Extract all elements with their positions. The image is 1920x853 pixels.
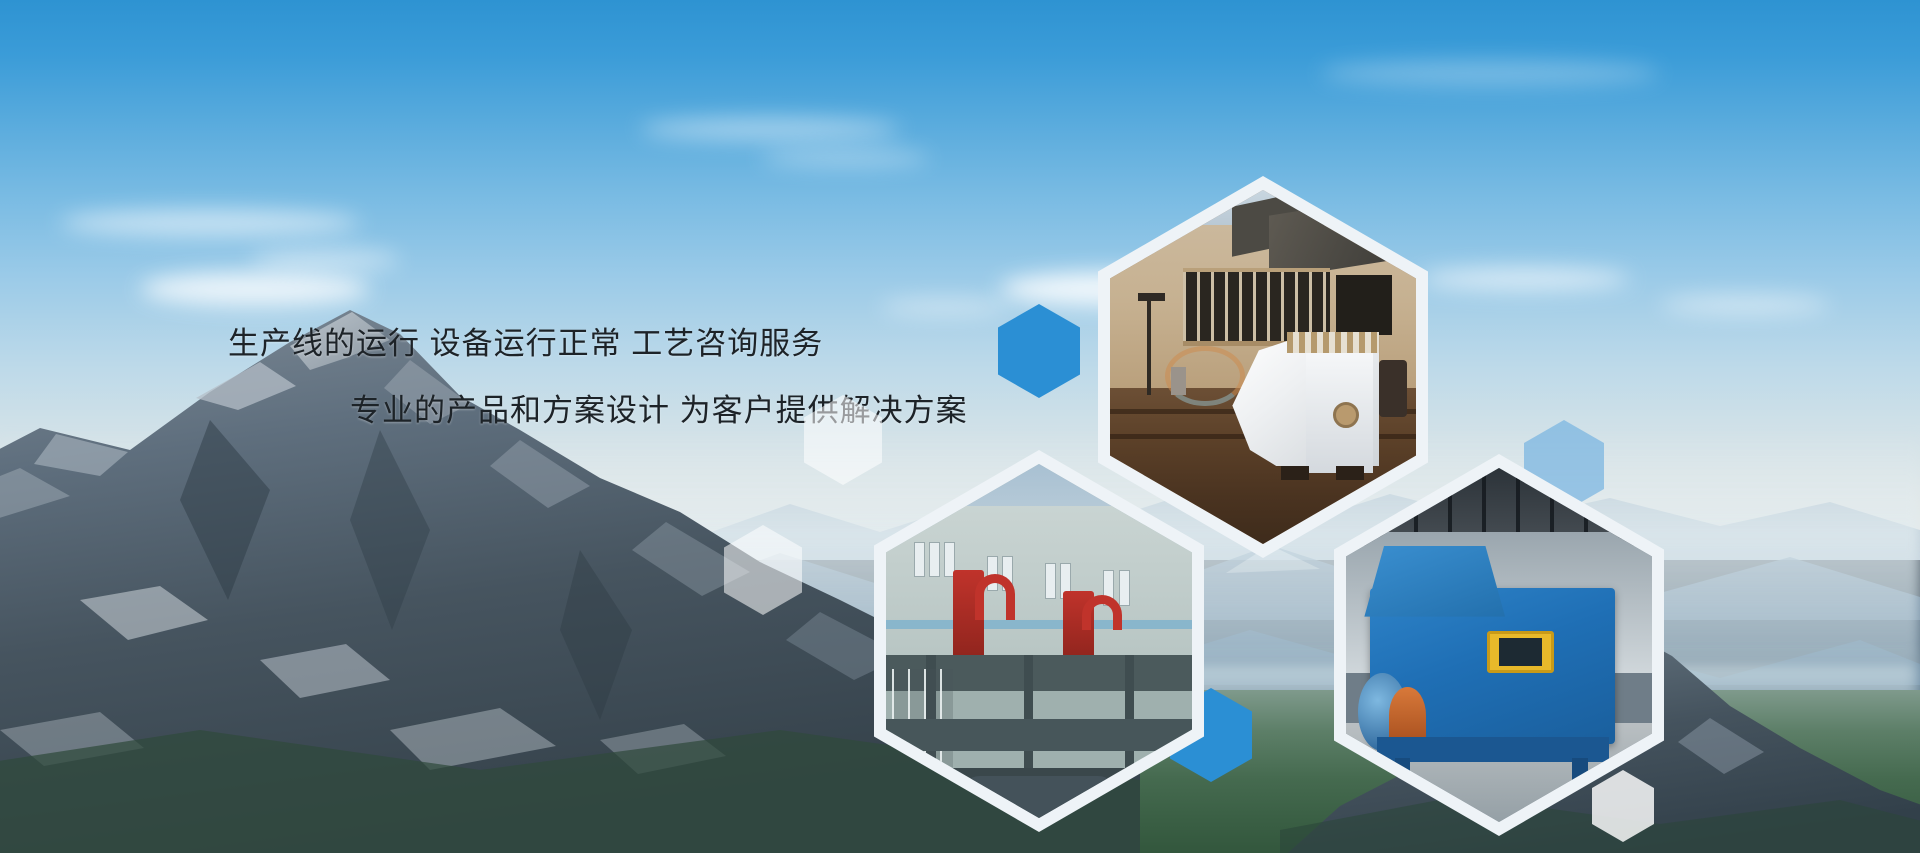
hexagon-collage — [880, 180, 1920, 853]
hero-banner: 生产线的运行 设备运行正常 工艺咨询服务 专业的产品和方案设计 为客户提供解决方… — [0, 0, 1920, 853]
photo-factory-press-line — [886, 464, 1192, 818]
photo-crusher-machine — [1110, 190, 1416, 544]
hex-deco-white-3 — [1592, 770, 1654, 842]
cloud-icon — [640, 118, 900, 140]
hex-deco-blue-1 — [998, 304, 1080, 398]
cloud-icon — [760, 150, 930, 166]
hex-photo-middle[interactable] — [874, 450, 1204, 832]
hex-photo-top[interactable] — [1098, 176, 1428, 558]
cloud-icon — [1320, 60, 1660, 86]
photo-blue-shredder-machine — [1346, 468, 1652, 822]
cloud-icon — [250, 250, 400, 270]
cloud-icon — [60, 210, 360, 236]
